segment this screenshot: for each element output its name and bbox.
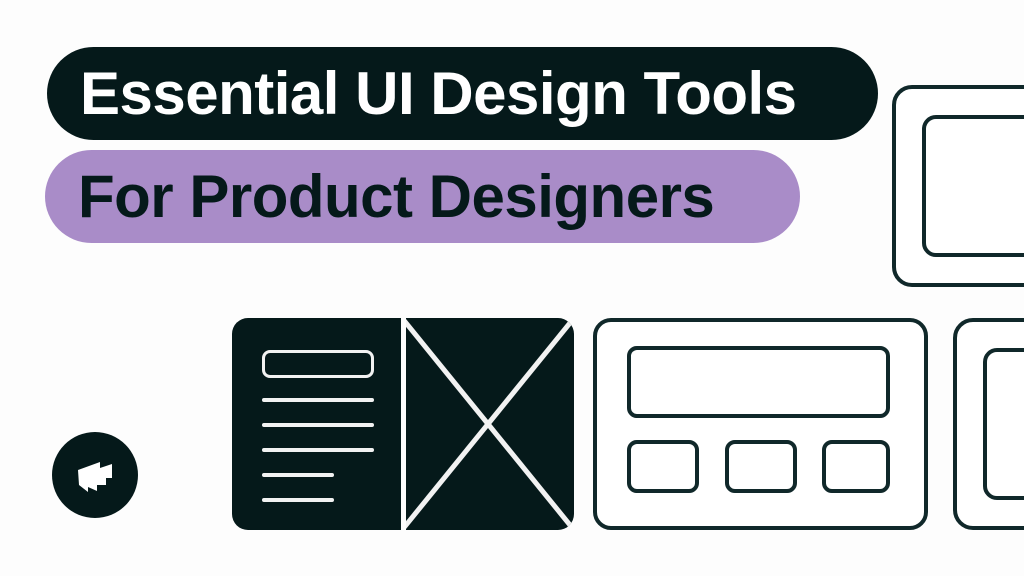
nested-frame-icon bbox=[953, 318, 1024, 530]
text-layout-icon bbox=[232, 318, 401, 530]
nested-frame-inner bbox=[922, 115, 1024, 257]
nested-frame-icon bbox=[892, 85, 1024, 287]
wireframe-text-line bbox=[262, 473, 334, 477]
poster-canvas: Essential UI Design Tools For Product De… bbox=[0, 0, 1024, 576]
component-card-icon bbox=[593, 318, 928, 530]
headline-subtitle-pill: For Product Designers bbox=[45, 150, 800, 243]
wireframe-button-block bbox=[725, 440, 797, 493]
wireframe-text-line bbox=[262, 498, 334, 502]
wireframe-button-block bbox=[822, 440, 890, 493]
brand-logo-badge bbox=[52, 432, 138, 518]
nested-frame-inner bbox=[983, 348, 1024, 500]
wireframe-input-field bbox=[262, 350, 374, 378]
wireframe-text-line bbox=[262, 448, 374, 452]
brand-mark-icon bbox=[69, 449, 121, 501]
wireframe-text-line bbox=[262, 398, 374, 402]
headline-title-pill: Essential UI Design Tools bbox=[47, 47, 878, 140]
wireframe-button-block bbox=[627, 440, 699, 493]
headline-subtitle-text: For Product Designers bbox=[78, 167, 714, 227]
wireframe-text-line bbox=[262, 423, 374, 427]
headline-title-text: Essential UI Design Tools bbox=[80, 64, 797, 124]
wireframe-hero-region bbox=[627, 346, 890, 418]
image-placeholder-icon bbox=[406, 318, 574, 530]
